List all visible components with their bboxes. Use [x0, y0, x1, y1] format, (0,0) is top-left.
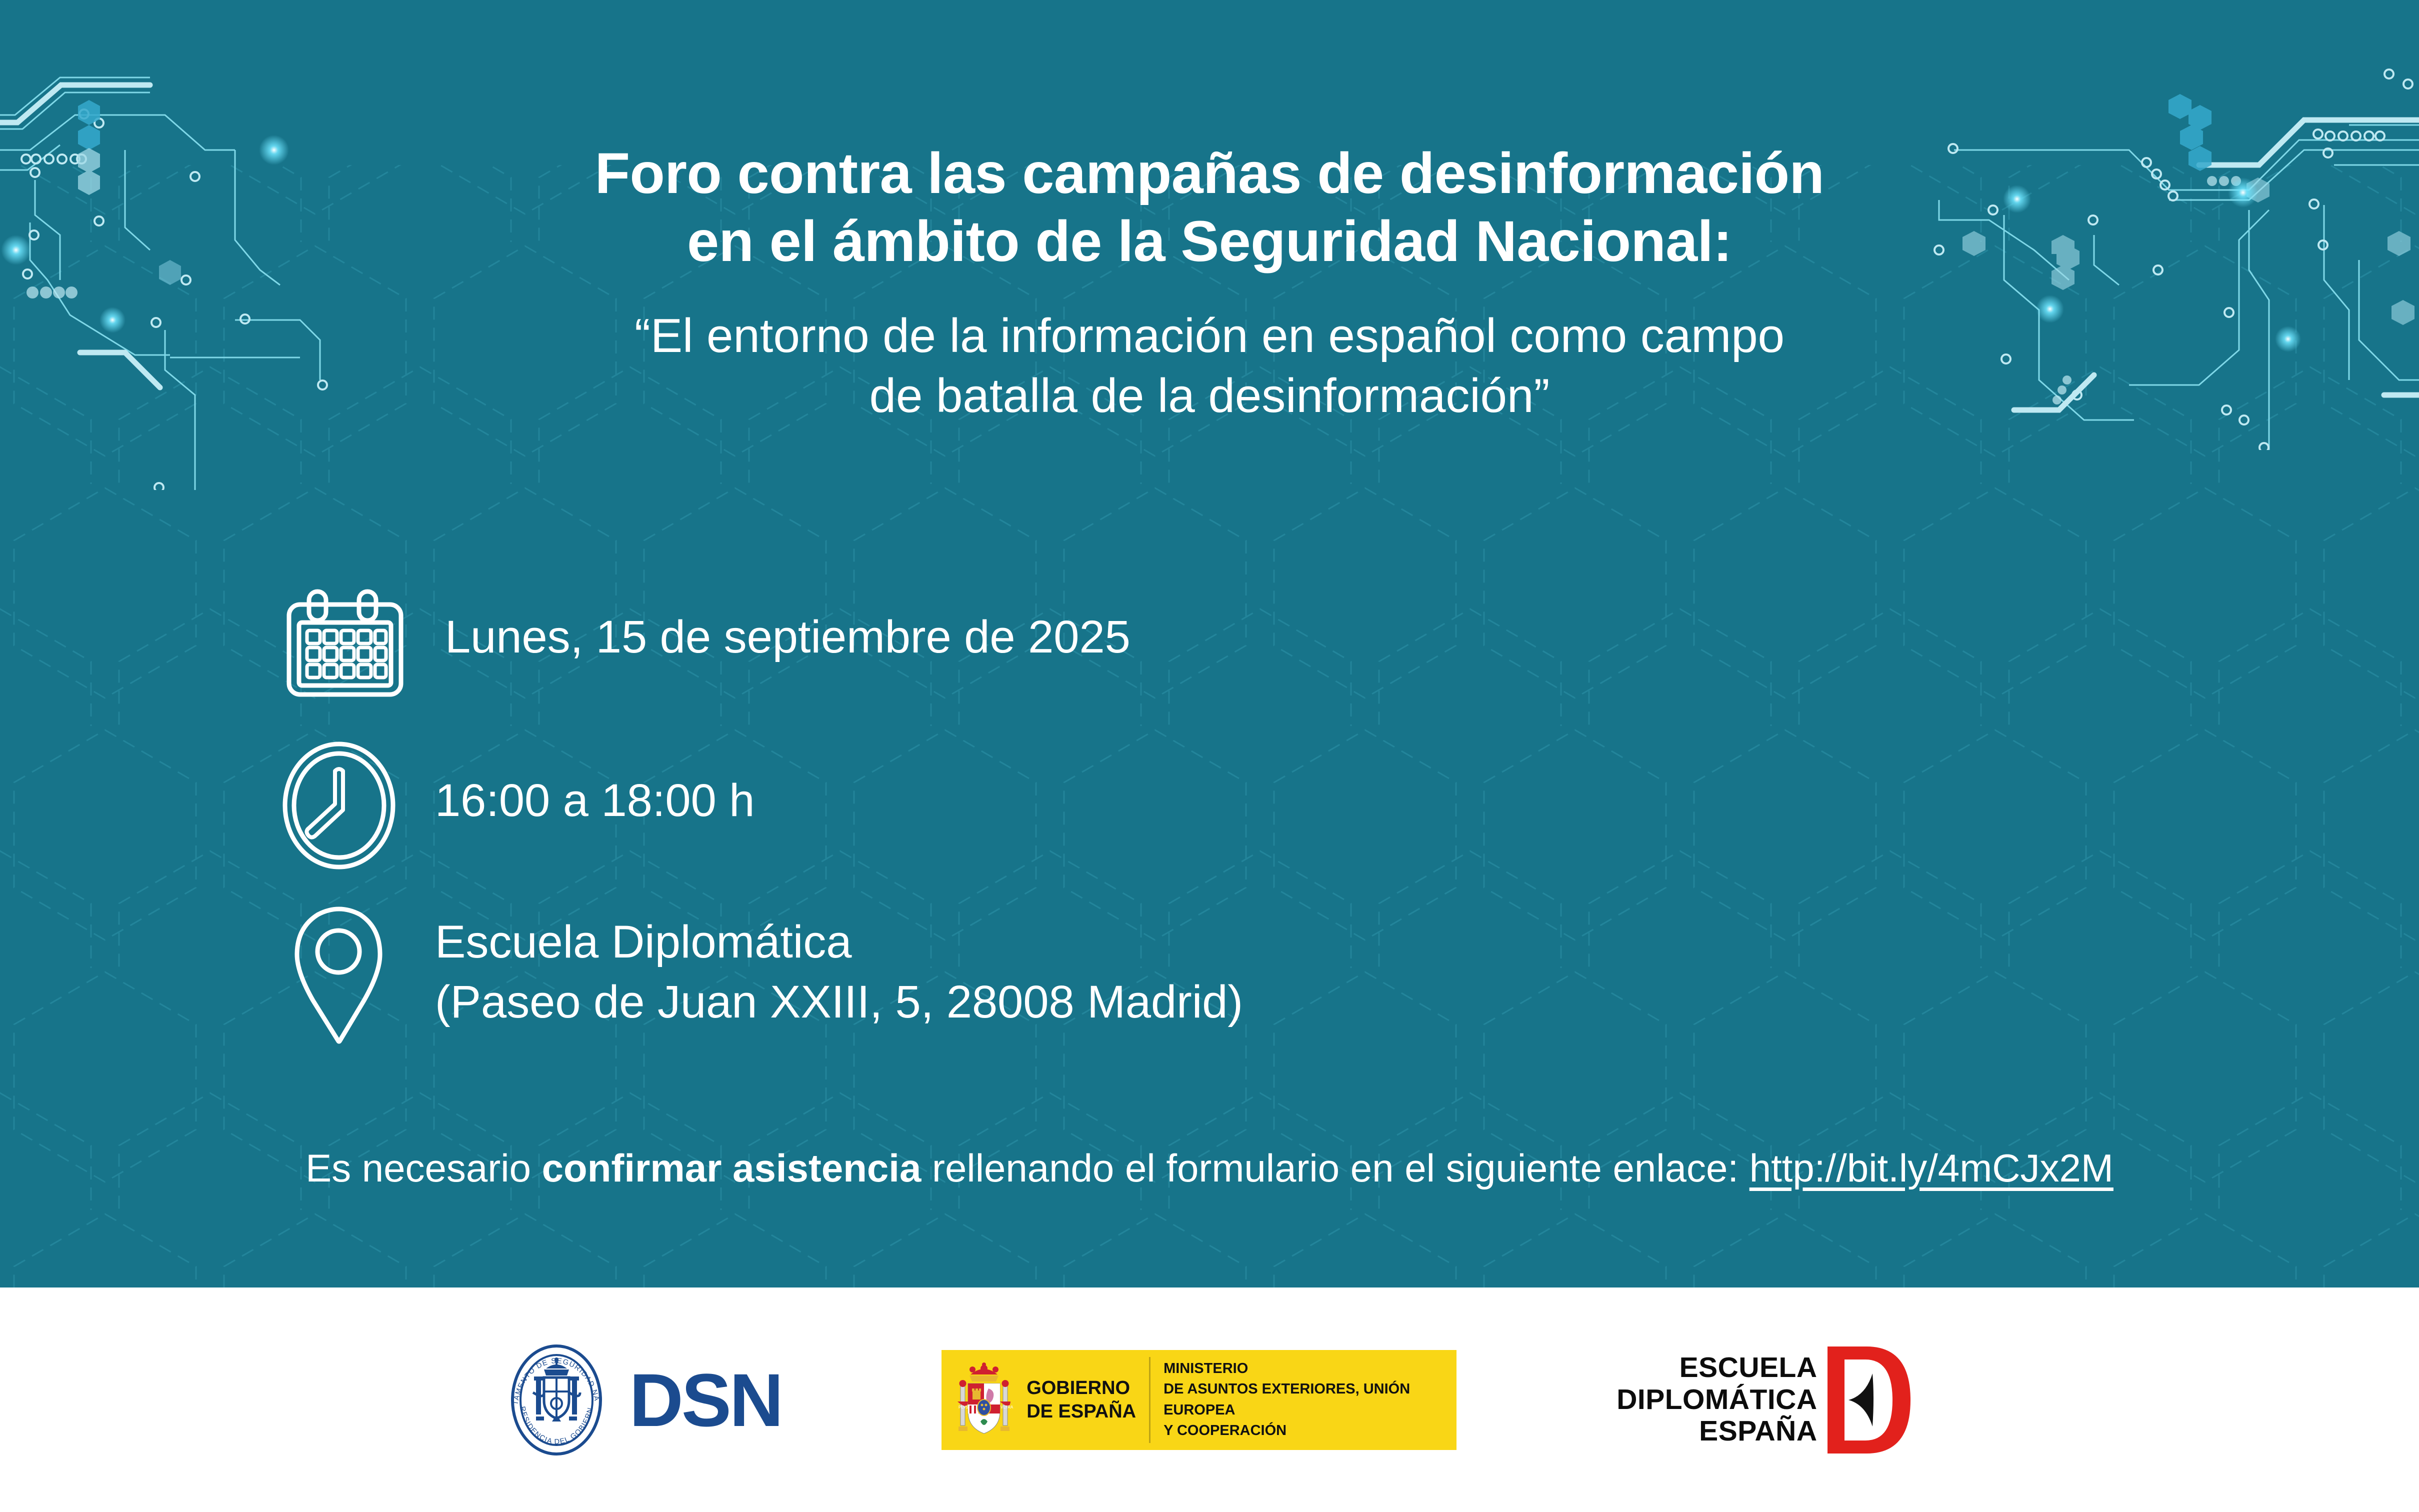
- subtitle-line-2: de batalla de la desinformación”: [0, 366, 2419, 426]
- gobierno-de-espana-text: GOBIERNO DE ESPAÑA: [1026, 1350, 1149, 1450]
- escuela-line-3: ESPAÑA: [1616, 1415, 1817, 1447]
- event-date-text: Lunes, 15 de septiembre de 2025: [435, 587, 1130, 667]
- location-address: (Paseo de Juan XXIII, 5, 28008 Madrid): [435, 972, 1243, 1032]
- event-time-text: 16:00 a 18:00 h: [435, 740, 754, 831]
- detail-row-date: Lunes, 15 de septiembre de 2025: [280, 587, 2080, 740]
- escuela-line-1: ESCUELA: [1616, 1352, 1817, 1384]
- detail-row-location: Escuela Diplomática (Paseo de Juan XXIII…: [280, 902, 2080, 1047]
- title-line-1: Foro contra las campañas de desinformaci…: [0, 140, 2419, 208]
- svg-text:VLTRA: VLTRA: [1000, 1405, 1013, 1409]
- registration-link[interactable]: http://bit.ly/4mCJx2M: [1749, 1146, 2113, 1190]
- poster-title: Foro contra las campañas de desinformaci…: [0, 140, 2419, 275]
- confirm-prefix: Es necesario: [305, 1146, 542, 1190]
- svg-text:PLVS: PLVS: [958, 1405, 968, 1409]
- dsn-seal-icon: DEPARTAMENTO DE SEGURIDAD NACIONAL PRESI…: [504, 1342, 609, 1457]
- escuela-text: ESCUELA DIPLOMÁTICA ESPAÑA: [1616, 1352, 1817, 1447]
- event-poster: Foro contra las campañas de desinformaci…: [0, 0, 2419, 1512]
- spain-coat-of-arms-icon: PLVS VLTRA: [941, 1350, 1026, 1450]
- hero-background: Foro contra las campañas de desinformaci…: [0, 0, 2419, 1287]
- calendar-icon: [280, 587, 435, 711]
- title-line-2: en el ámbito de la Seguridad Nacional:: [0, 208, 2419, 276]
- subtitle-line-1: “El entorno de la información en español…: [0, 306, 2419, 366]
- ministerio-line-3: Y COOPERACIÓN: [1163, 1420, 1456, 1441]
- footer-logos: DEPARTAMENTO DE SEGURIDAD NACIONAL PRESI…: [0, 1287, 2419, 1512]
- confirm-middle: rellenando el formulario en el siguiente…: [921, 1146, 1749, 1190]
- confirm-attendance-line: Es necesario confirmar asistencia rellen…: [0, 1145, 2419, 1192]
- poster-subtitle: “El entorno de la información en español…: [0, 306, 2419, 426]
- event-location-text: Escuela Diplomática (Paseo de Juan XXIII…: [435, 902, 1243, 1032]
- detail-row-time: 16:00 a 18:00 h: [280, 740, 2080, 902]
- gobierno-line-2: DE ESPAÑA: [1026, 1400, 1136, 1423]
- ministry-logo: PLVS VLTRA GOBIERNO DE ESPAÑA MINISTERIO…: [941, 1350, 1456, 1450]
- ministerio-line-2: DE ASUNTOS EXTERIORES, UNIÓN EUROPEA: [1163, 1379, 1456, 1420]
- clock-icon: [280, 740, 435, 871]
- dsn-wordmark: DSN: [629, 1362, 781, 1437]
- dsn-logo: DEPARTAMENTO DE SEGURIDAD NACIONAL PRESI…: [504, 1342, 781, 1457]
- ministerio-text: MINISTERIO DE ASUNTOS EXTERIORES, UNIÓN …: [1150, 1350, 1456, 1450]
- escuela-diplomatica-logo: ESCUELA DIPLOMÁTICA ESPAÑA: [1616, 1342, 1914, 1457]
- ministerio-line-1: MINISTERIO: [1163, 1358, 1456, 1379]
- escuela-line-2: DIPLOMÁTICA: [1616, 1384, 1817, 1416]
- confirm-bold: confirmar asistencia: [542, 1146, 921, 1190]
- location-name: Escuela Diplomática: [435, 912, 1243, 972]
- event-details: Lunes, 15 de septiembre de 2025 16:00 a …: [280, 587, 2080, 1047]
- escuela-d-monogram-icon: [1822, 1342, 1915, 1457]
- gobierno-line-1: GOBIERNO: [1026, 1376, 1136, 1399]
- location-pin-icon: [280, 902, 435, 1047]
